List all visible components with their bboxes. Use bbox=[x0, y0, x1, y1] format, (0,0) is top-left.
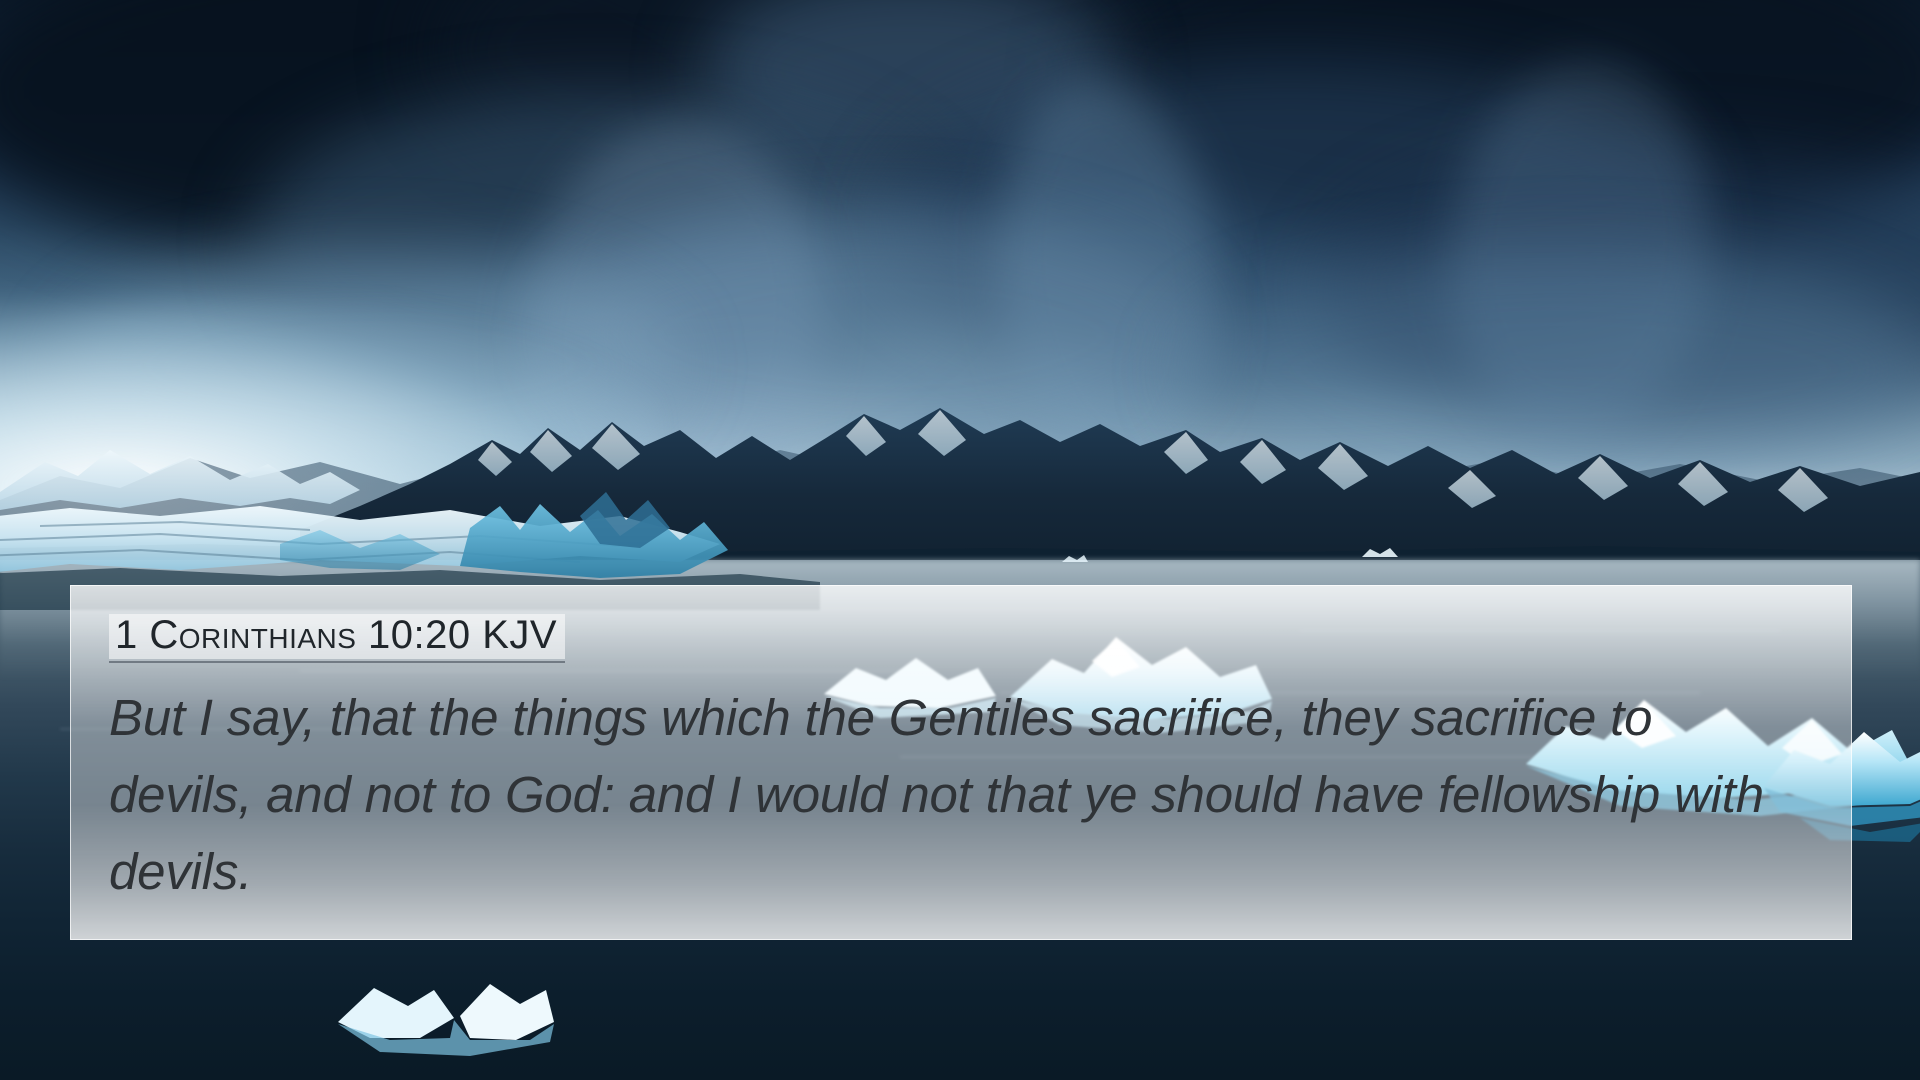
verse-reference-underline bbox=[109, 661, 565, 663]
iceberg-tiny bbox=[1360, 545, 1400, 561]
verse-reference-wrap: 1 Corinthians 10:20 KJV bbox=[109, 614, 565, 663]
verse-card: 1 Corinthians 10:20 KJV But I say, that … bbox=[70, 585, 1852, 940]
iceberg-small bbox=[330, 960, 560, 1060]
verse-text: But I say, that the things which the Gen… bbox=[109, 679, 1789, 910]
wallpaper-canvas: 1 Corinthians 10:20 KJV But I say, that … bbox=[0, 0, 1920, 1080]
verse-reference: 1 Corinthians 10:20 KJV bbox=[109, 614, 565, 659]
iceberg-tiny bbox=[1060, 552, 1090, 566]
